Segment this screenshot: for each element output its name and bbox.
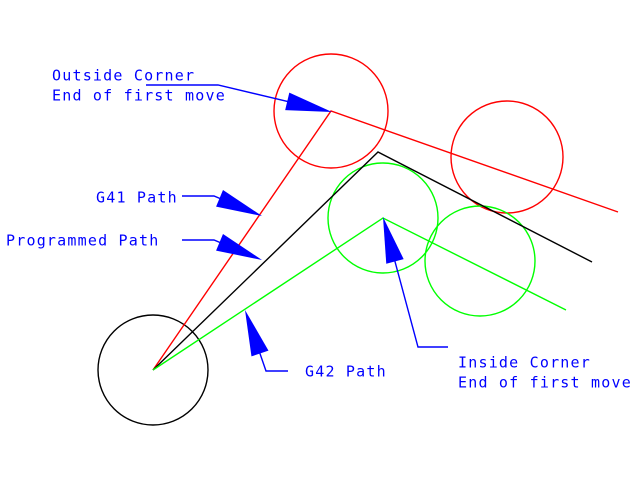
label-programmed-path: Programmed Path [6,232,159,250]
outside-corner-label-line1: Outside Corner [52,67,195,85]
outside-corner-label-line2: End of first move [52,87,226,105]
g41-path-label: G41 Path [96,189,178,207]
inside-corner-label-line1: Inside Corner [458,354,591,372]
g42-path-label: G42 Path [305,363,387,381]
diagram-canvas: Outside Corner End of first move G41 Pat… [0,0,640,480]
label-g41-path: G41 Path [96,189,178,207]
cnc-compensation-diagram: Outside Corner End of first move G41 Pat… [0,0,640,480]
inside-corner-label-line2: End of first move [458,374,632,392]
programmed-path-label: Programmed Path [6,232,159,250]
label-g42-path: G42 Path [305,363,387,381]
